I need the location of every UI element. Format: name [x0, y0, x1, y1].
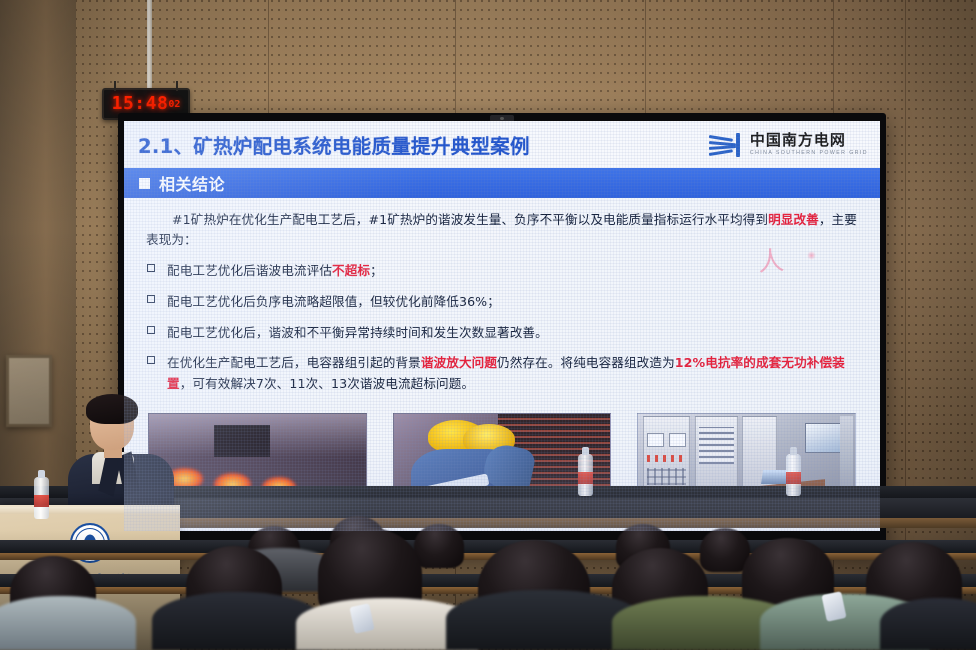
brand-name-en: CHINA SOUTHERN POWER GRID [750, 151, 868, 156]
slide-header: 2.1、矿热炉配电系统电能质量提升典型案例 中国南方电网 CHINA SOUTH… [124, 121, 880, 168]
audience-shoulders [880, 598, 976, 650]
clock-bracket-right [176, 81, 178, 91]
list-item: 配电工艺优化后负序电流略超限值，但较优化前降低36%； [146, 292, 858, 312]
bullet-highlight: 不超标 [332, 263, 370, 278]
slide-body: #1矿热炉在优化生产配电工艺后，#1矿热炉的谐波发生量、负序不平衡以及电能质量指… [124, 198, 880, 394]
audience-head [414, 524, 464, 568]
water-bottle [786, 454, 801, 496]
bullet4-mid: 仍然存在。将纯电容器组改造为 [497, 355, 675, 370]
csg-logo: 中国南方电网 CHINA SOUTHERN POWER GRID [709, 132, 868, 158]
band-label: 相关结论 [159, 171, 225, 195]
hollow-square-bullet-icon [147, 356, 155, 364]
bullet4-highlight-1: 谐波放大问题 [421, 355, 497, 370]
bullet-text: 配电工艺优化后，谐波和不平衡异常持续时间和发生次数显著改善。 [167, 325, 548, 340]
list-item: 配电工艺优化后谐波电流评估不超标； [146, 261, 858, 281]
clock-time: 15:48 [112, 95, 169, 113]
clock-bracket-left [114, 81, 116, 91]
band-square-bullet-icon [139, 178, 150, 189]
bullet-tail: ； [370, 263, 383, 278]
bullet-text: 配电工艺优化后谐波电流评估 [167, 263, 332, 278]
water-bottle [578, 454, 593, 496]
powerpoint-slide[interactable]: 2.1、矿热炉配电系统电能质量提升典型案例 中国南方电网 CHINA SOUTH… [124, 121, 880, 531]
intro-text: #1矿热炉在优化生产配电工艺后，#1矿热炉的谐波发生量、负序不平衡以及电能质量指… [172, 212, 768, 227]
list-item: 在优化生产配电工艺后，电容器组引起的背景谐波放大问题仍然存在。将纯电容器组改造为… [146, 353, 858, 394]
audience-seating [0, 500, 976, 650]
bullet4-post: ，可有效解决7次、11次、13次谐波电流超标问题。 [180, 376, 474, 391]
csg-logo-mark-icon [709, 132, 743, 158]
hollow-square-bullet-icon [147, 326, 155, 334]
slide-section-band: 相关结论 [124, 168, 880, 198]
list-item: 配电工艺优化后，谐波和不平衡异常持续时间和发生次数显著改善。 [146, 323, 858, 343]
bullet4-pre: 在优化生产配电工艺后，电容器组引起的背景 [167, 355, 421, 370]
clock-seconds: 02 [168, 99, 180, 110]
seat-row [0, 540, 976, 553]
audience-shoulders [0, 596, 136, 650]
hollow-square-bullet-icon [147, 264, 155, 272]
hollow-square-bullet-icon [147, 295, 155, 303]
intro-highlight: 明显改善 [768, 212, 819, 227]
bullet-text: 配电工艺优化后负序电流略超限值，但较优化前降低36%； [167, 294, 500, 309]
presenter-hair [86, 394, 138, 424]
slide-title: 2.1、矿热炉配电系统电能质量提升典型案例 [138, 130, 530, 159]
brand-name-cn: 中国南方电网 [750, 133, 868, 148]
slide-intro-paragraph: #1矿热炉在优化生产配电工艺后，#1矿热炉的谐波发生量、负序不平衡以及电能质量指… [146, 210, 858, 251]
